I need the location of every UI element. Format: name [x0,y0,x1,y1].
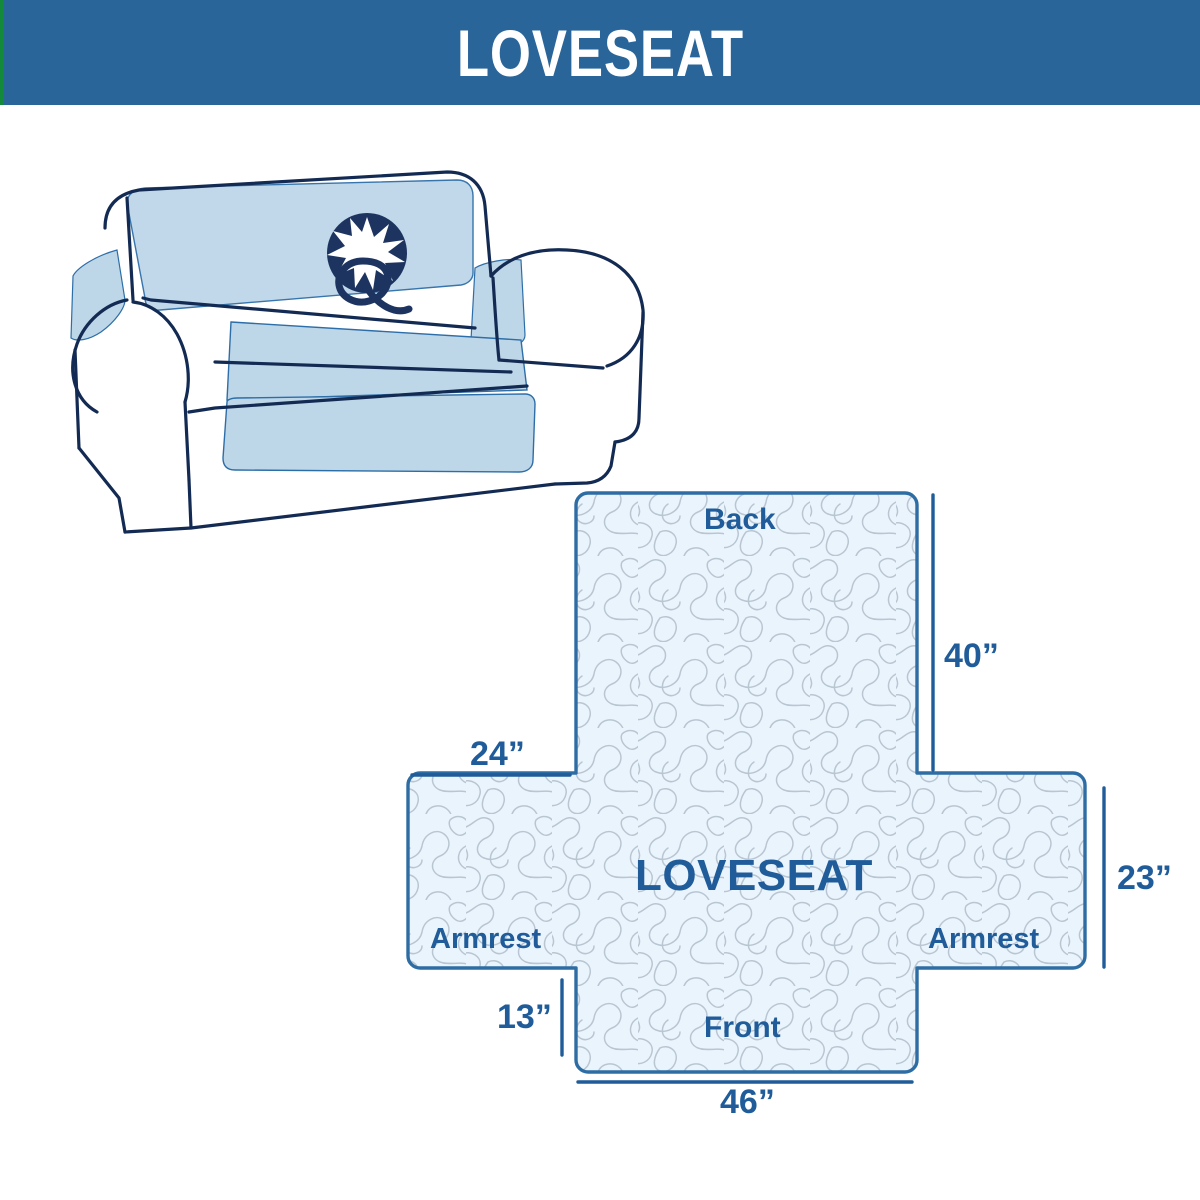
cross-pattern-shape [408,493,1085,1072]
panel-label-armrest-left: Armrest [430,925,541,954]
header-accent-edge [0,0,4,105]
dimension-label-front-height: 13” [497,1000,552,1034]
page-title: LOVESEAT [456,20,743,86]
loveseat-size-diagram-page: LOVESEAT [0,0,1200,1200]
cover-panel-left-arm [71,250,125,340]
dimension-label-armrest-height: 23” [1117,861,1172,895]
page-header: LOVESEAT [0,0,1200,105]
dimension-label-total-width: 46” [720,1085,775,1119]
panel-label-back: Back [704,505,776,535]
panel-label-armrest-right: Armrest [928,925,1039,954]
dimension-label-back-height: 40” [944,639,999,673]
q-starburst-logo [327,213,409,311]
panel-label-front: Front [704,1013,781,1043]
dimension-label-back-width: 24” [470,737,525,771]
panel-label-center: LOVESEAT [635,854,873,898]
cover-panel-back [127,180,473,310]
